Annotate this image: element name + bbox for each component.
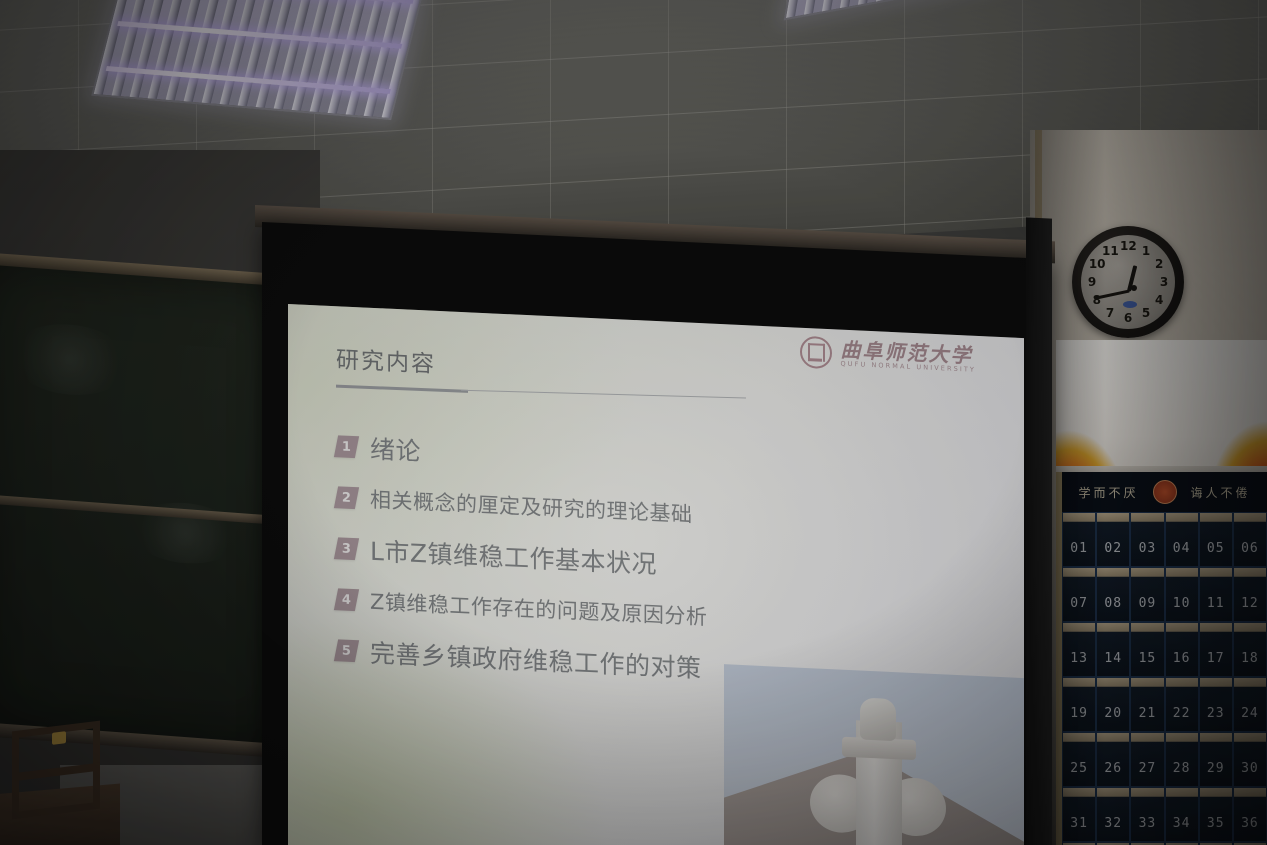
agenda-item: 3L市Z镇维稳工作基本状况 bbox=[336, 530, 998, 597]
agenda-item-number: 1 bbox=[342, 439, 351, 454]
agenda-item-number: 2 bbox=[342, 490, 351, 505]
university-wordmark: 曲阜师范大学 QUFU NORMAL UNIVERSITY bbox=[841, 340, 976, 374]
photo-lion-statue bbox=[860, 697, 896, 741]
agenda-item-number: 4 bbox=[342, 592, 351, 607]
agenda-item-number: 5 bbox=[342, 643, 351, 658]
agenda-item-number: 3 bbox=[342, 541, 351, 556]
agenda-item-label: L市Z镇维稳工作基本状况 bbox=[370, 532, 657, 581]
screen-bezel-right bbox=[1026, 217, 1052, 845]
title-underline-thick bbox=[336, 385, 468, 393]
agenda-item: 4Z镇维稳工作存在的问题及原因分析 bbox=[336, 584, 998, 645]
chair-emblem-icon bbox=[52, 731, 66, 745]
agenda-item-label: 完善乡镇政府维稳工作的对策 bbox=[370, 634, 702, 685]
agenda-item-badge: 5 bbox=[334, 639, 359, 662]
agenda-item-badge: 3 bbox=[334, 537, 359, 560]
agenda-item-badge: 2 bbox=[334, 486, 359, 509]
agenda-list: 1绪论2相关概念的厘定及研究的理论基础3L市Z镇维稳工作基本状况4Z镇维稳工作存… bbox=[336, 428, 998, 699]
agenda-item: 1绪论 bbox=[336, 428, 998, 495]
university-seal-icon bbox=[800, 336, 832, 369]
classroom-scene: 121234567891011 学而不厌 诲人不倦 01020304050607… bbox=[0, 0, 1267, 845]
slide: 曲阜师范大学 QUFU NORMAL UNIVERSITY 研究内容 1绪论2相… bbox=[288, 304, 1024, 845]
right-wall-shading bbox=[1030, 130, 1267, 845]
agenda-item-label: 绪论 bbox=[370, 430, 421, 468]
agenda-item-badge: 1 bbox=[334, 435, 359, 458]
agenda-item-badge: 4 bbox=[334, 588, 359, 611]
chalk-smudge bbox=[10, 320, 130, 399]
agenda-item: 2相关概念的厘定及研究的理论基础 bbox=[336, 482, 998, 543]
projection-screen: 曲阜师范大学 QUFU NORMAL UNIVERSITY 研究内容 1绪论2相… bbox=[288, 304, 1024, 845]
agenda-item-label: 相关概念的厘定及研究的理论基础 bbox=[370, 484, 693, 529]
slide-photo bbox=[724, 664, 1024, 845]
agenda-item-label: Z镇维稳工作存在的问题及原因分析 bbox=[370, 586, 707, 632]
